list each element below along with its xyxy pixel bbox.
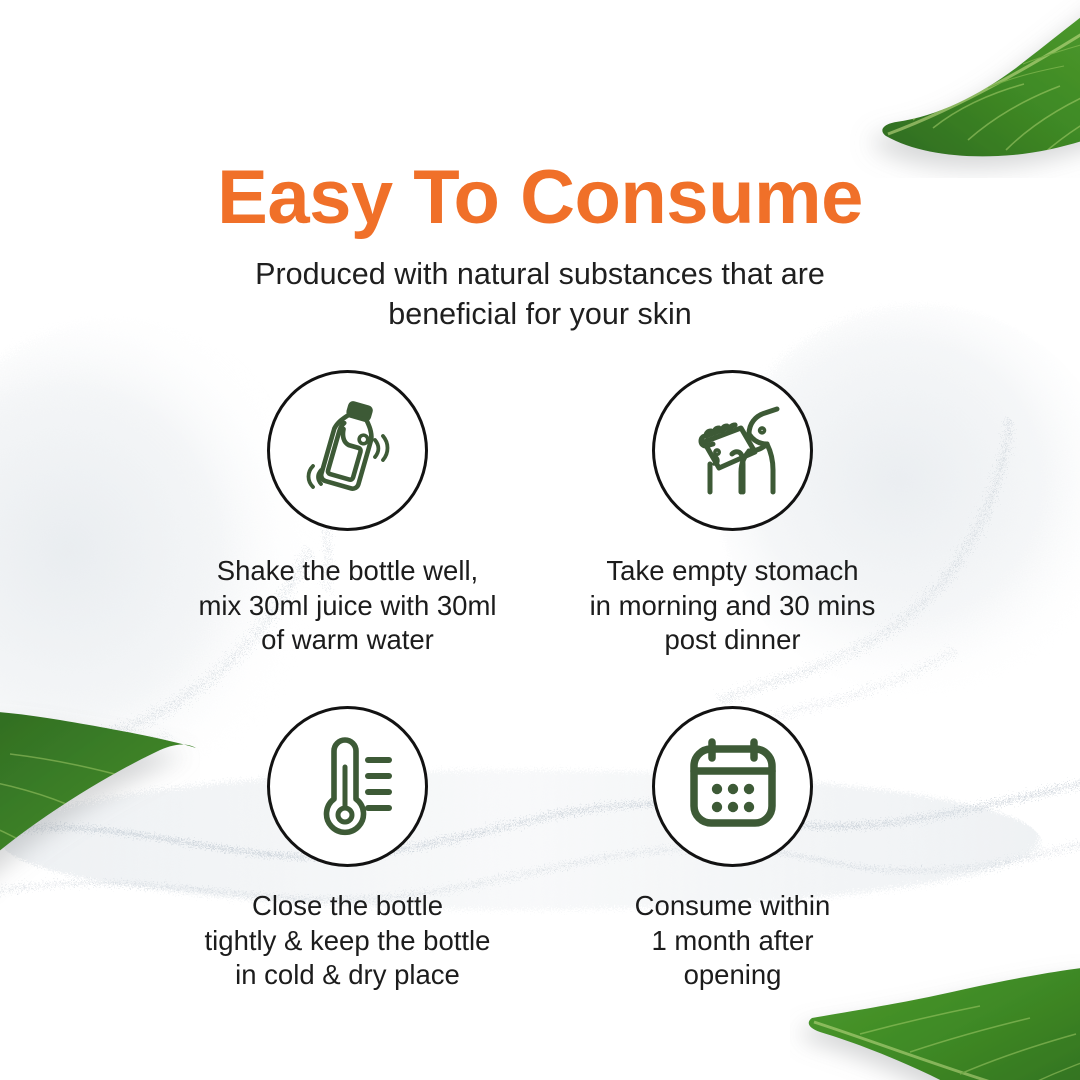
step-caption: Take empty stomach in morning and 30 min… [568, 554, 898, 658]
step-icon-circle [267, 706, 428, 867]
step-caption: Shake the bottle well, mix 30ml juice wi… [183, 554, 513, 658]
step-icon-circle [652, 706, 813, 867]
step-item: Close the bottle tightly & keep the bott… [155, 706, 540, 993]
step-caption: Consume within 1 month after opening [583, 889, 883, 993]
person-drinking-icon [679, 394, 787, 507]
step-caption: Close the bottle tightly & keep the bott… [178, 889, 518, 993]
step-item: Take empty stomach in morning and 30 min… [540, 370, 925, 658]
step-item: Shake the bottle well, mix 30ml juice wi… [155, 370, 540, 658]
step-item: Consume within 1 month after opening [540, 706, 925, 993]
page-subtitle: Produced with natural substances that ar… [220, 254, 860, 335]
header: Easy To Consume Produced with natural su… [0, 160, 1080, 335]
steps-grid: Shake the bottle well, mix 30ml juice wi… [155, 370, 925, 993]
leaf-top-right [838, 0, 1080, 183]
thermometer-icon [296, 729, 400, 844]
page-title: Easy To Consume [0, 160, 1080, 236]
step-icon-circle [267, 370, 428, 531]
poster-canvas: Easy To Consume Produced with natural su… [0, 0, 1080, 1080]
step-icon-circle [652, 370, 813, 531]
shaking-bottle-icon [290, 390, 406, 511]
calendar-icon [681, 732, 785, 841]
